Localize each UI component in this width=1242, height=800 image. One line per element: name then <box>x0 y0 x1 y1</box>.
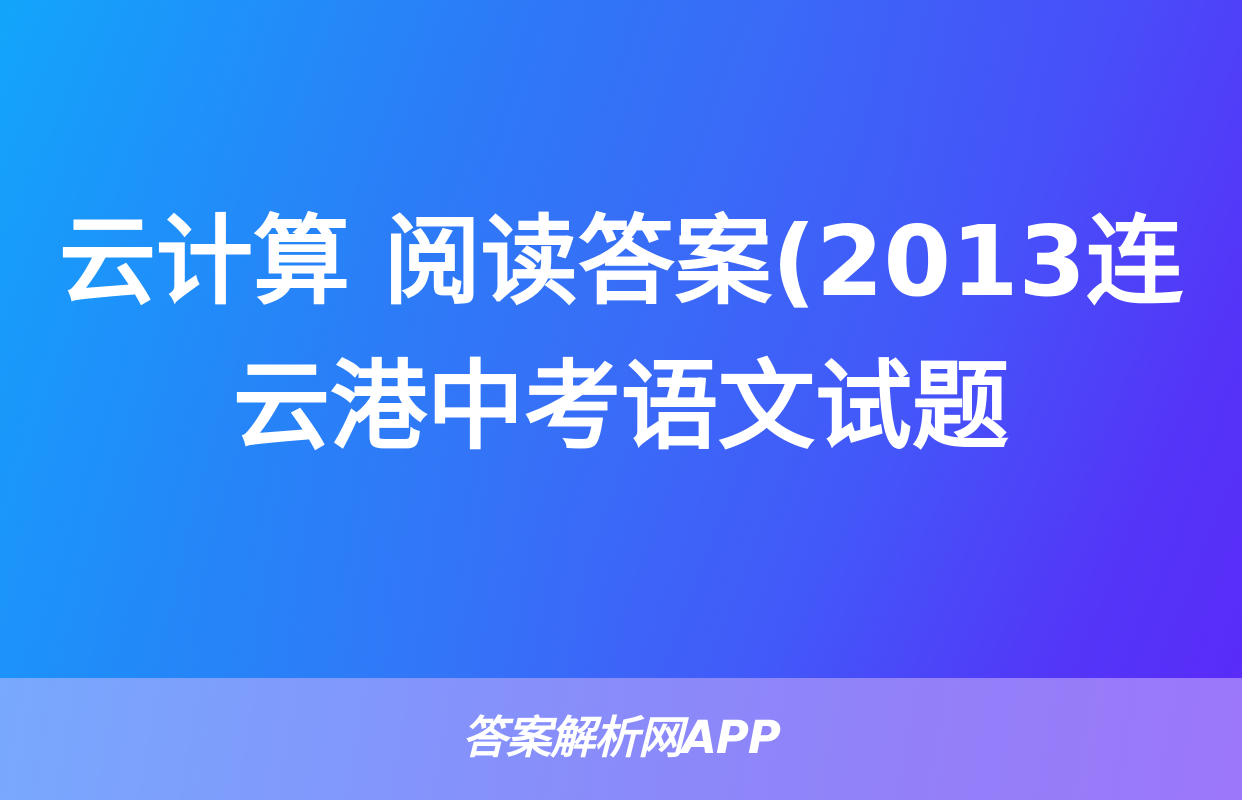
title-line-2: 云港中考语文试题 <box>233 334 1009 479</box>
title-line-1: 云计算 阅读答案(2013连 <box>59 189 1183 334</box>
title-block: 云计算 阅读答案(2013连 云港中考语文试题 <box>0 0 1242 678</box>
poster-canvas: 云计算 阅读答案(2013连 云港中考语文试题 答案解析网APP <box>0 0 1242 800</box>
footer-brand-band: 答案解析网APP <box>0 678 1242 800</box>
footer-brand-label: 答案解析网APP <box>462 713 780 763</box>
